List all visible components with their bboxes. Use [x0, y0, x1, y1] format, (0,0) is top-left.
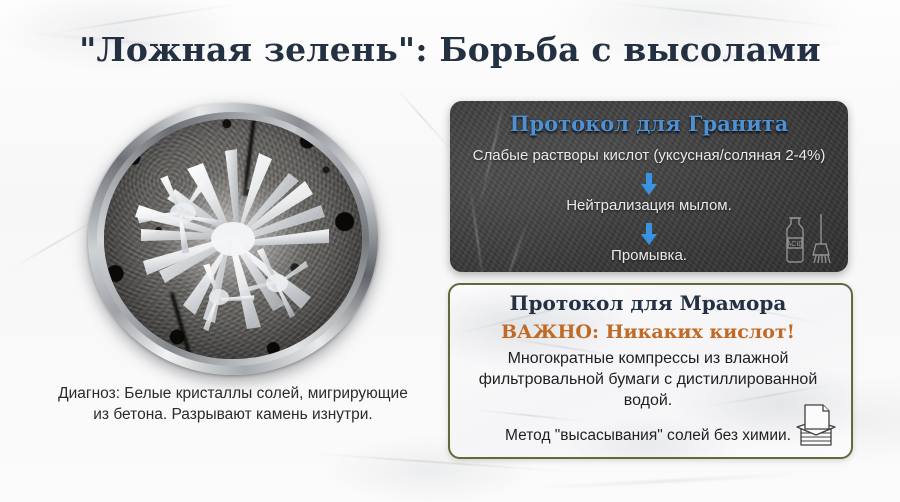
marble-warning-text: ВАЖНО: Никаких кислот!: [450, 321, 846, 343]
slide-canvas: "Ложная зелень": Борьба с высолами: [0, 0, 900, 502]
slide-title: "Ложная зелень": Борьба с высолами: [0, 30, 900, 69]
marble-body-text: Многократные компрессы из влажной фильтр…: [458, 348, 838, 411]
marble-vein: [395, 87, 456, 155]
marble-vein: [601, 1, 850, 28]
down-arrow-icon: [450, 173, 848, 195]
granite-protocol-panel: Протокол для Гранита Слабые растворы кис…: [450, 101, 848, 272]
granite-step-1: Слабые растворы кислот (уксусная/соляная…: [450, 147, 848, 164]
acid-bottle-and-brush-icon: ACID: [778, 212, 838, 266]
filter-paper-stack-icon: [787, 399, 845, 453]
salt-efflorescence-photo: [88, 103, 378, 375]
marble-protocol-panel: Протокол для Мрамора ВАЖНО: Никаких кисл…: [448, 283, 853, 459]
photo-vignette: [104, 119, 362, 359]
photo-disc: [104, 119, 362, 359]
marble-footer-text: Метод "высасывания" солей без химии.: [454, 427, 842, 445]
acid-bottle-label: ACID: [787, 241, 804, 248]
marble-panel-title: Протокол для Мрамора: [450, 291, 846, 315]
marble-vein: [520, 472, 820, 490]
photo-caption: Диагноз: Белые кристаллы солей, мигрирую…: [52, 383, 414, 425]
granite-panel-title: Протокол для Гранита: [450, 111, 848, 136]
